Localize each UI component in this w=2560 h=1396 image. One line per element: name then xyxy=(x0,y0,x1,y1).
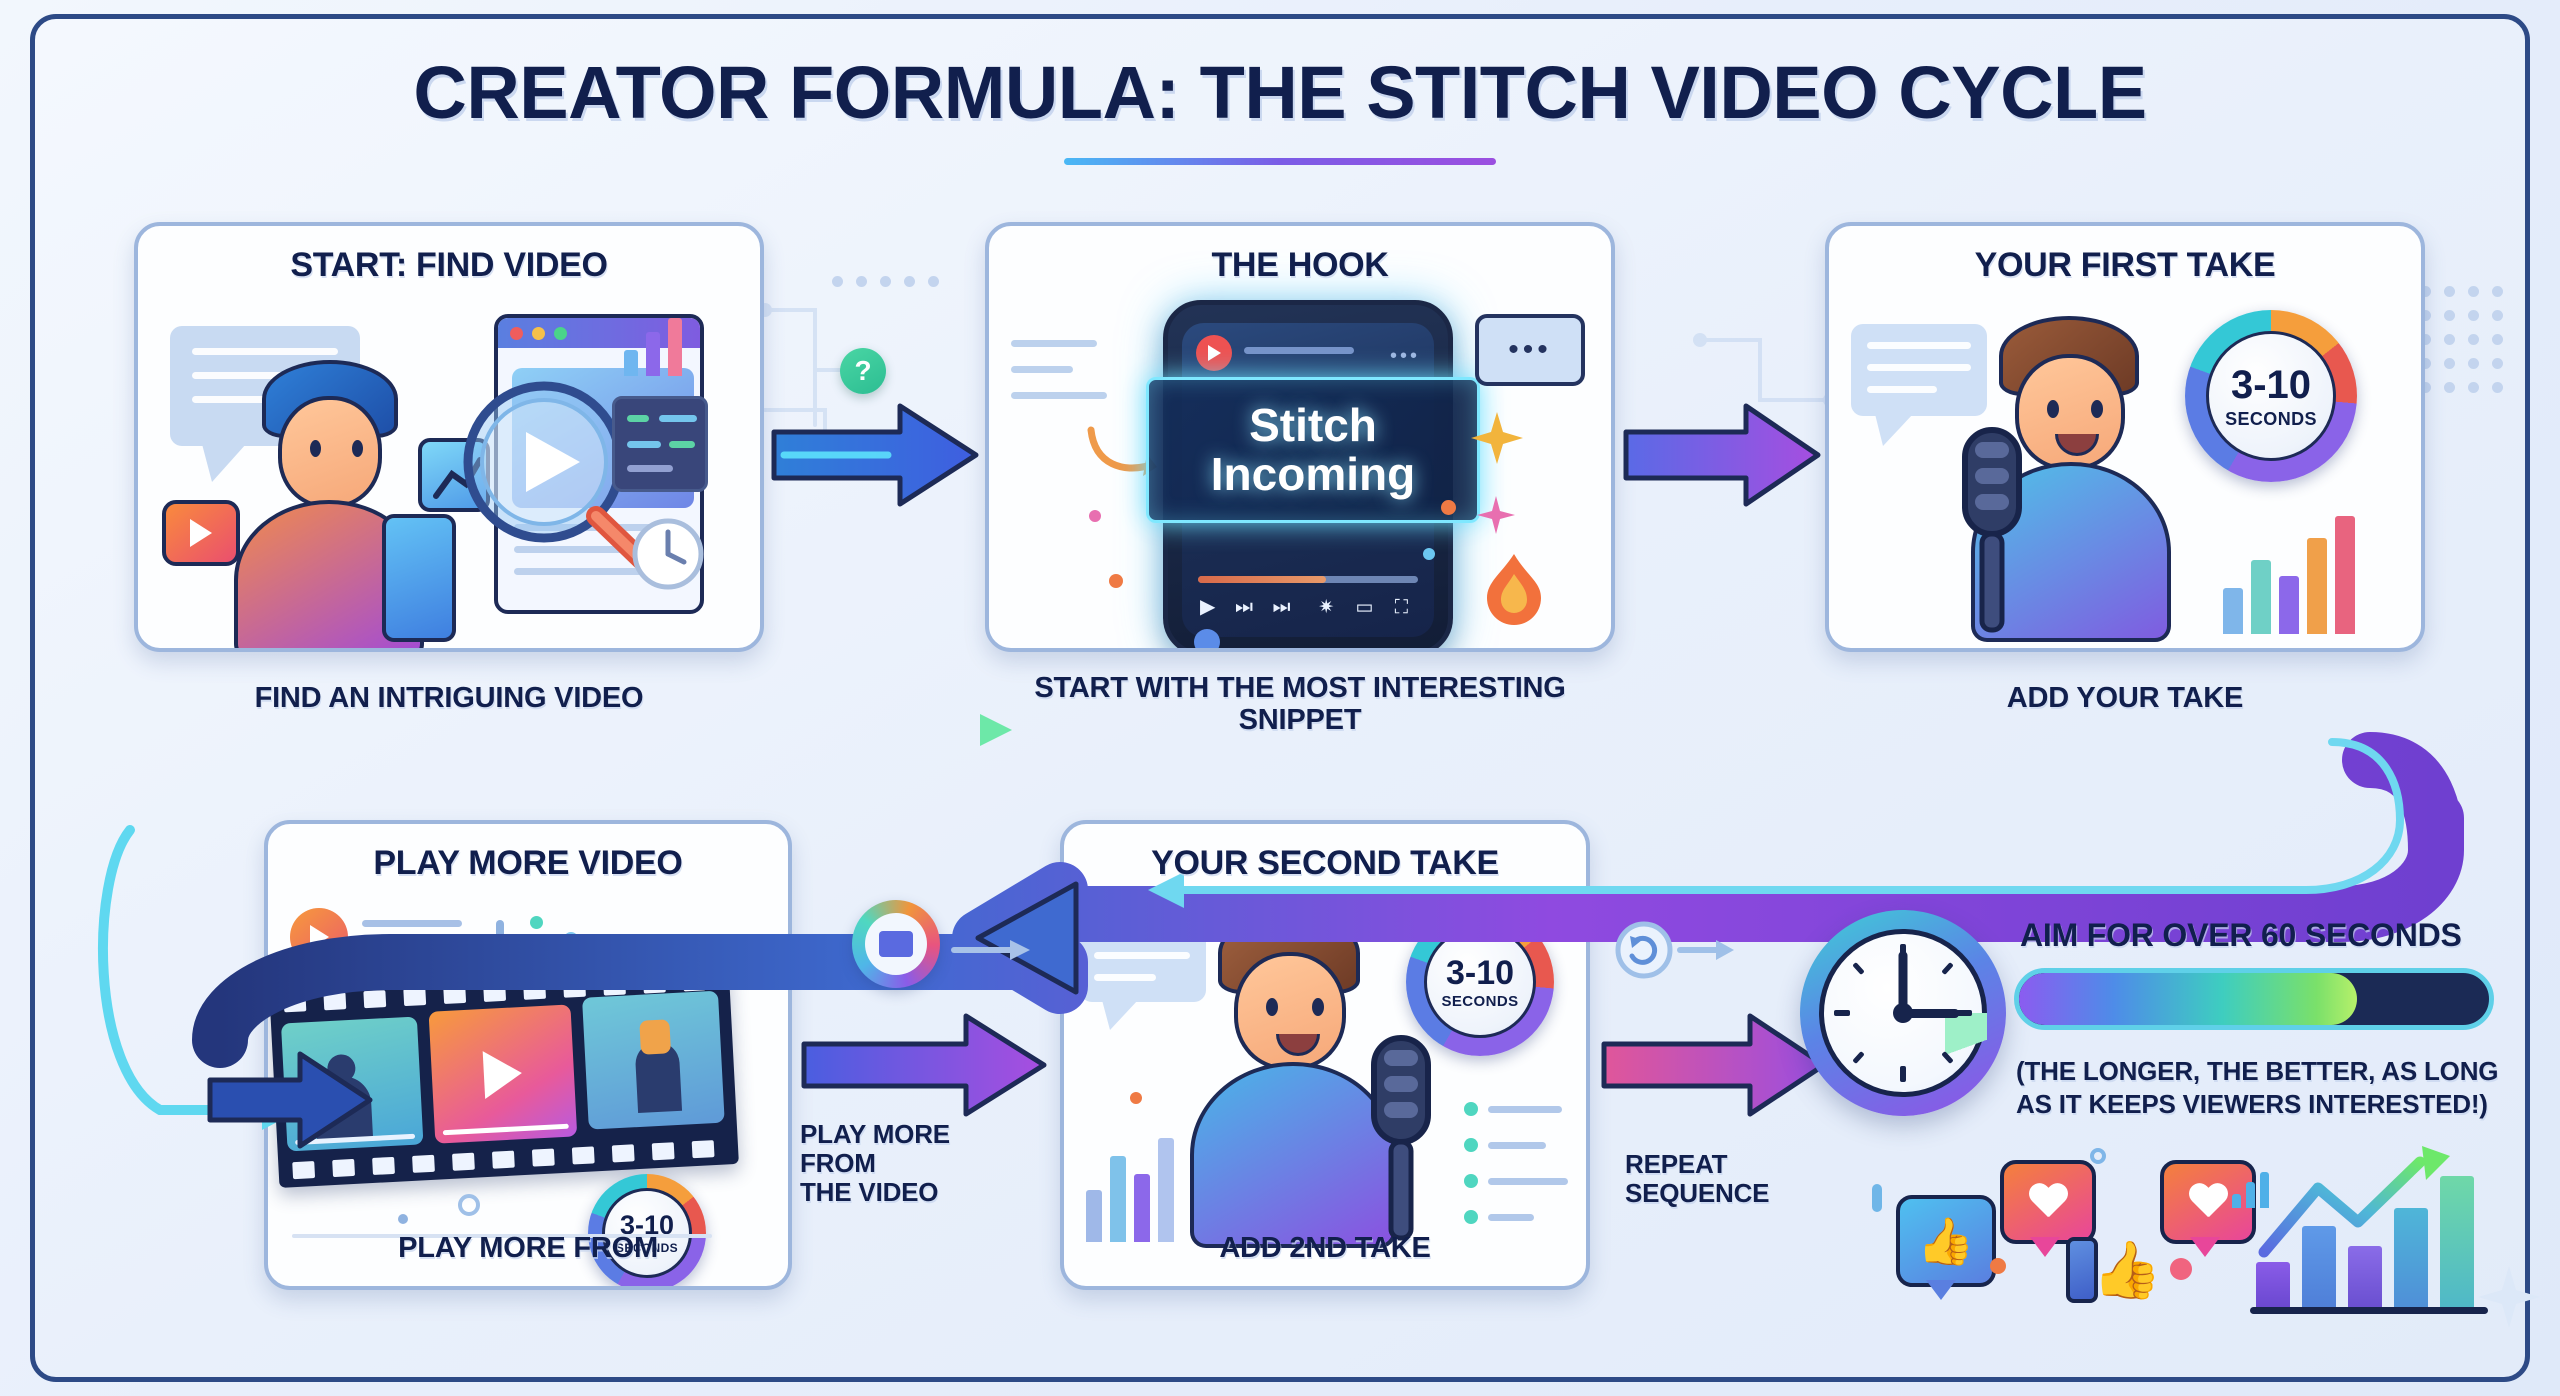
thumbs-up-icon: 👍 xyxy=(1896,1195,1996,1287)
panel-title-play-more-video: PLAY MORE VIDEO xyxy=(268,844,788,883)
speech-bubble-tail xyxy=(1875,414,1915,448)
page-title: CREATOR FORMULA: THE STITCH VIDEO CYCLE xyxy=(0,50,2560,135)
panel-title-your-first-take: YOUR FIRST TAKE xyxy=(1829,246,2421,285)
bar-chart-icon xyxy=(1084,1112,1184,1242)
stitch-line-2: Incoming xyxy=(1211,450,1415,499)
media-chip-icon xyxy=(852,900,940,988)
panel-art-start-find-video xyxy=(138,304,760,648)
bar-chart-icon xyxy=(2217,502,2375,634)
arrow-into-play-more-video xyxy=(100,770,430,1190)
stitch-incoming-banner: Stitch Incoming xyxy=(1146,377,1480,523)
phone-icon: ••• ▶ ⏭ ⏭ ✷ ▭ ⛶ Stitch Incoming xyxy=(1163,300,1453,652)
code-panel-icon xyxy=(612,396,708,492)
badge-unit: SECONDS xyxy=(2225,410,2317,428)
connector-label-repeat: REPEAT SEQUENCE xyxy=(1625,1150,1895,1208)
curved-arrow-icon xyxy=(1085,422,1155,482)
heart-small-icon xyxy=(2170,1258,2192,1280)
play-icon xyxy=(162,500,240,566)
panel-title-your-second-take: YOUR SECOND TAKE xyxy=(1064,844,1586,883)
person-head xyxy=(278,396,382,508)
arrow-step1-to-step2 xyxy=(770,400,980,510)
panel-art-your-first-take: 3-10 SECONDS xyxy=(1829,304,2421,648)
dots-decoration-top xyxy=(832,276,939,287)
dots-decoration-right xyxy=(2420,286,2503,393)
sparkle-icon xyxy=(1475,494,1517,536)
question-mark-icon: ? xyxy=(840,348,886,394)
speech-bubble-tail xyxy=(202,444,248,484)
stitch-line-1: Stitch xyxy=(1249,401,1377,450)
panel-the-hook[interactable]: THE HOOK ••• xyxy=(985,222,1615,652)
stopwatch-icon: 3-10 SECONDS xyxy=(2185,310,2357,482)
panel-title-start-find-video: START: FIND VIDEO xyxy=(138,246,760,285)
outcome-note: (THE LONGER, THE BETTER, AS LONG AS IT K… xyxy=(2016,1055,2536,1120)
panel-your-first-take[interactable]: YOUR FIRST TAKE xyxy=(1825,222,2425,652)
panel-title-the-hook: THE HOOK xyxy=(989,246,1611,285)
gauge-icon xyxy=(626,512,710,596)
growth-chart-icon xyxy=(2250,1140,2500,1320)
fire-icon xyxy=(1481,552,1547,624)
caption-add-2nd-take: ADD 2ND TAKE xyxy=(1064,1232,1586,1264)
sparkle-icon xyxy=(1469,410,1525,466)
panel-art-the-hook: ••• ▶ ⏭ ⏭ ✷ ▭ ⛶ Stitch Incoming xyxy=(989,304,1611,648)
thumbs-up-icon: 👍 xyxy=(2066,1222,2162,1318)
arrow-step4-to-step5 xyxy=(800,1010,1050,1120)
checklist-icon xyxy=(1464,1098,1574,1228)
progress-bar-icon xyxy=(2014,968,2494,1030)
progress-bar-fill xyxy=(2019,973,2357,1025)
connector-label-play-more: PLAY MORE FROM THE VIDEO xyxy=(800,1120,1070,1207)
arrow-step2-to-step3 xyxy=(1622,400,1822,510)
bar-chart-small-icon xyxy=(2230,1168,2276,1208)
repeat-icon xyxy=(1610,910,1740,990)
outcome-headline: AIM FOR OVER 60 SECONDS xyxy=(2020,918,2520,954)
arrow-step5-to-outcome xyxy=(1600,1010,1830,1120)
connector-line-icon xyxy=(950,920,1040,980)
title-underline xyxy=(1064,158,1496,165)
sparkle-icon xyxy=(2474,1262,2544,1332)
clock-icon xyxy=(1800,910,2006,1116)
speech-bubble-icon: ••• xyxy=(1475,314,1585,386)
infographic-canvas: CREATOR FORMULA: THE STITCH VIDEO CYCLE … xyxy=(0,0,2560,1396)
panel-start-find-video[interactable]: START: FIND VIDEO xyxy=(134,222,764,652)
badge-value: 3-10 xyxy=(2231,365,2311,405)
microphone-icon xyxy=(1925,422,2055,652)
speech-bubble-icon xyxy=(1851,324,1987,416)
bar-chart-icon xyxy=(618,312,694,376)
caption-play-more-from: PLAY MORE FROM xyxy=(268,1232,788,1264)
